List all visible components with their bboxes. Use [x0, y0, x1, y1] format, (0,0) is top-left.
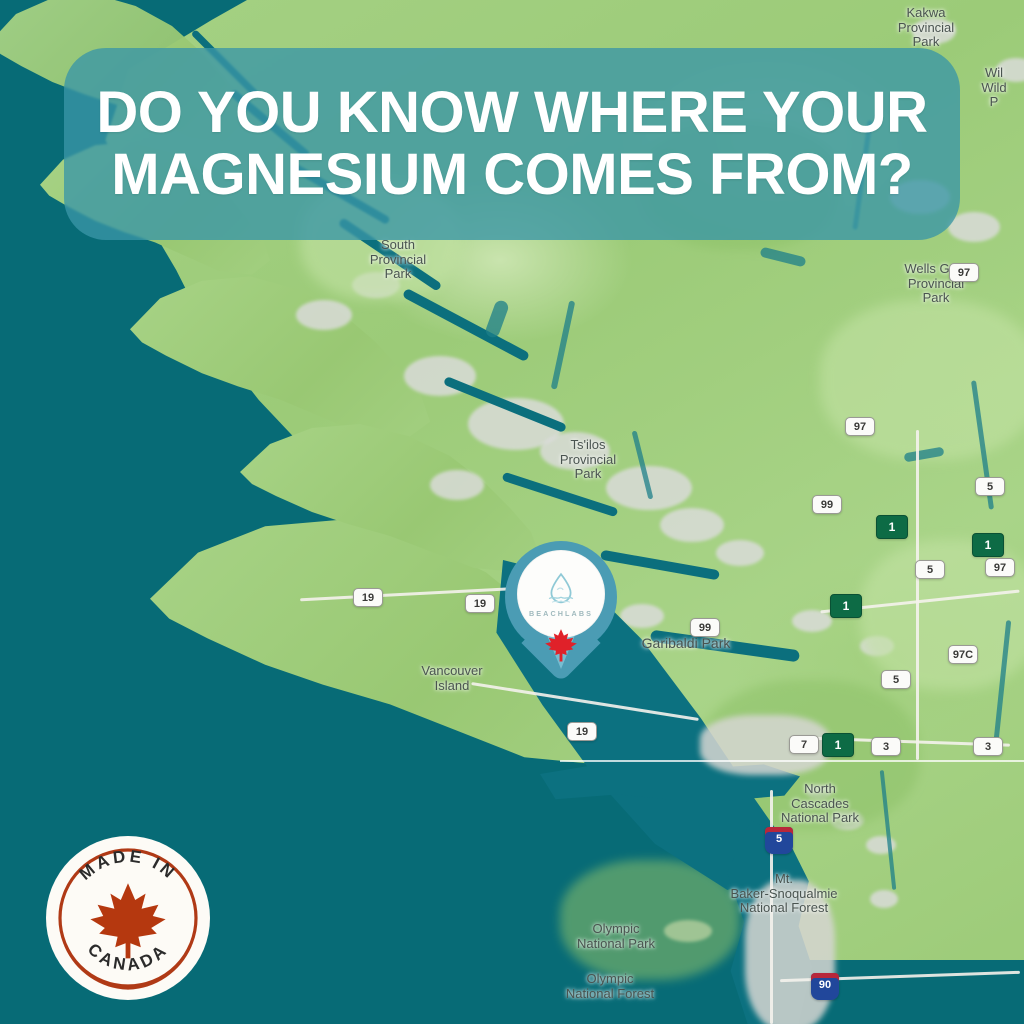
highway-shield-1[interactable]: 1: [830, 594, 862, 618]
highway-shield-19[interactable]: 19: [353, 588, 383, 607]
international-border: [560, 760, 1024, 762]
interstate-5: [770, 790, 773, 1024]
highway-shield-97[interactable]: 97: [845, 417, 875, 436]
location-pin-marker[interactable]: BEACHLABS: [505, 541, 617, 671]
highway-shield-5[interactable]: 5: [915, 560, 945, 579]
headline-line-2: MAGNESIUM COMES FROM?: [111, 142, 912, 207]
snow-patch: [296, 300, 352, 330]
highway-shield-19[interactable]: 19: [465, 594, 495, 613]
maple-leaf-icon: [543, 627, 579, 663]
pin-brand-label: BEACHLABS: [529, 609, 593, 618]
snow-patch: [660, 508, 724, 542]
highway-shield-5[interactable]: 5: [881, 670, 911, 689]
highway-shield-90[interactable]: 90: [811, 973, 839, 1000]
highway-shield-1[interactable]: 1: [972, 533, 1004, 557]
highway-shield-1[interactable]: 1: [876, 515, 908, 539]
highway-5: [916, 430, 919, 760]
highway-shield-5[interactable]: 5: [975, 477, 1005, 496]
water-droplet-icon: [546, 572, 576, 606]
highway-shield-97[interactable]: 97: [985, 558, 1015, 577]
highway-shield-7[interactable]: 7: [789, 735, 819, 754]
highway-shield-5[interactable]: 5: [765, 827, 793, 854]
headline-line-1: DO YOU KNOW WHERE YOUR: [96, 80, 927, 145]
highway-shield-97[interactable]: 97: [949, 263, 979, 282]
highway-shield-97c[interactable]: 97C: [948, 645, 978, 664]
highway-shield-1[interactable]: 1: [822, 733, 854, 757]
snow-patch: [430, 470, 484, 500]
social-graphic: Kakwa Provincial ParkWil Wild PSouth Pro…: [0, 0, 1024, 1024]
seattle-metro: [745, 880, 835, 1024]
snow-patch: [870, 890, 898, 908]
highway-shield-19[interactable]: 19: [567, 722, 597, 741]
highway-shield-99[interactable]: 99: [690, 618, 720, 637]
page-title: DO YOU KNOW WHERE YOUR MAGNESIUM COMES F…: [96, 82, 927, 206]
forest-patch-light: [820, 300, 1024, 460]
badge-maple-leaf-icon: [88, 880, 168, 960]
highway-shield-99[interactable]: 99: [812, 495, 842, 514]
snow-patch: [540, 432, 610, 470]
snow-patch: [948, 212, 1000, 242]
snow-patch: [792, 610, 832, 632]
svg-text:MADE IN: MADE IN: [76, 847, 181, 884]
made-in-canada-badge: MADE IN CANADA: [46, 836, 210, 1000]
pin-logo-disc: BEACHLABS: [517, 550, 605, 638]
highway-shield-3[interactable]: 3: [871, 737, 901, 756]
highway-shield-3[interactable]: 3: [973, 737, 1003, 756]
headline-banner: DO YOU KNOW WHERE YOUR MAGNESIUM COMES F…: [64, 48, 960, 240]
snow-patch: [716, 540, 764, 566]
snow-patch: [912, 18, 956, 44]
